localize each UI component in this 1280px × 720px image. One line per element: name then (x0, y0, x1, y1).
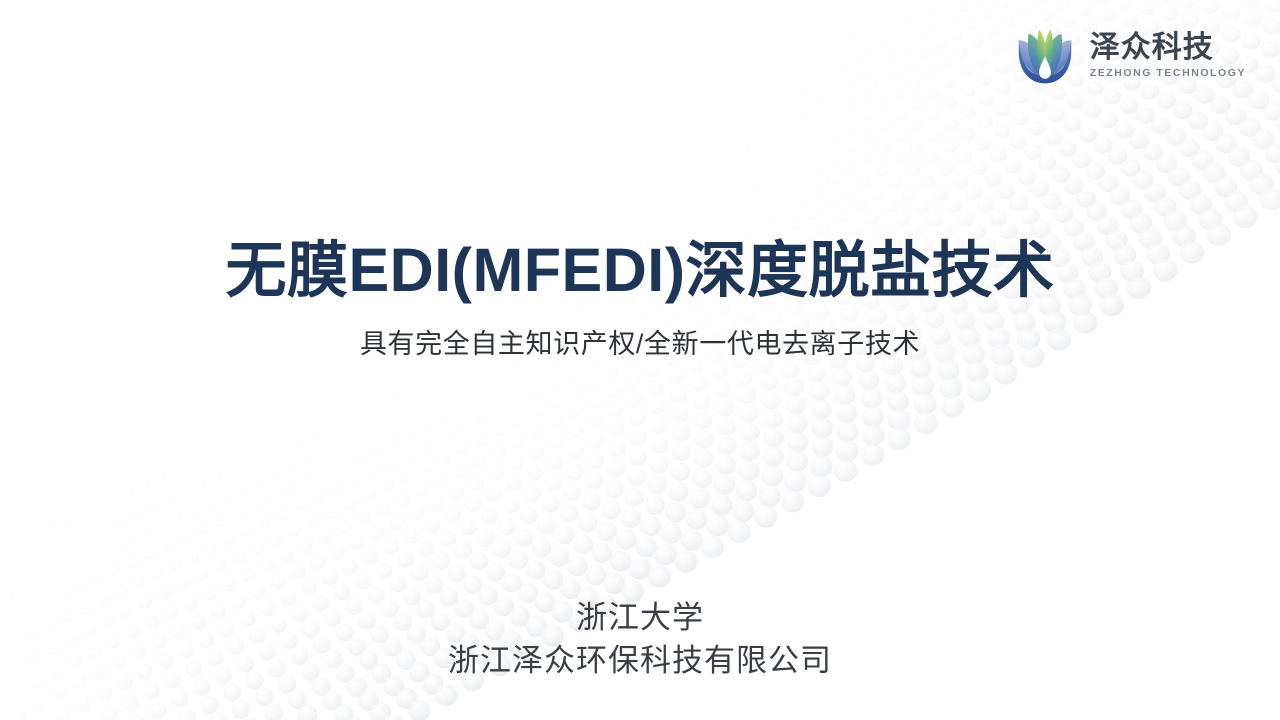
slide-subtitle: 具有完全自主知识产权/全新一代电去离子技术 (0, 328, 1280, 360)
logo-wordmark: 泽众科技 ZEZHONG TECHNOLOGY (1090, 30, 1246, 79)
title-slide: 泽众科技 ZEZHONG TECHNOLOGY 无膜EDI(MFEDI)深度脱盐… (0, 0, 1280, 720)
lotus-waterdrop-logo-icon (1012, 22, 1078, 88)
affiliation-company: 浙江泽众环保科技有限公司 (0, 640, 1280, 683)
slide-title: 无膜EDI(MFEDI)深度脱盐技术 (0, 238, 1280, 304)
logo-company-name-cn: 泽众科技 (1090, 32, 1214, 64)
affiliation-university: 浙江大学 (0, 597, 1280, 640)
logo-company-name-en: ZEZHONG TECHNOLOGY (1090, 68, 1246, 80)
affiliation-block: 浙江大学 浙江泽众环保科技有限公司 (0, 597, 1280, 683)
headline-block: 无膜EDI(MFEDI)深度脱盐技术 具有完全自主知识产权/全新一代电去离子技术 (0, 238, 1280, 360)
company-logo: 泽众科技 ZEZHONG TECHNOLOGY (1012, 22, 1246, 88)
